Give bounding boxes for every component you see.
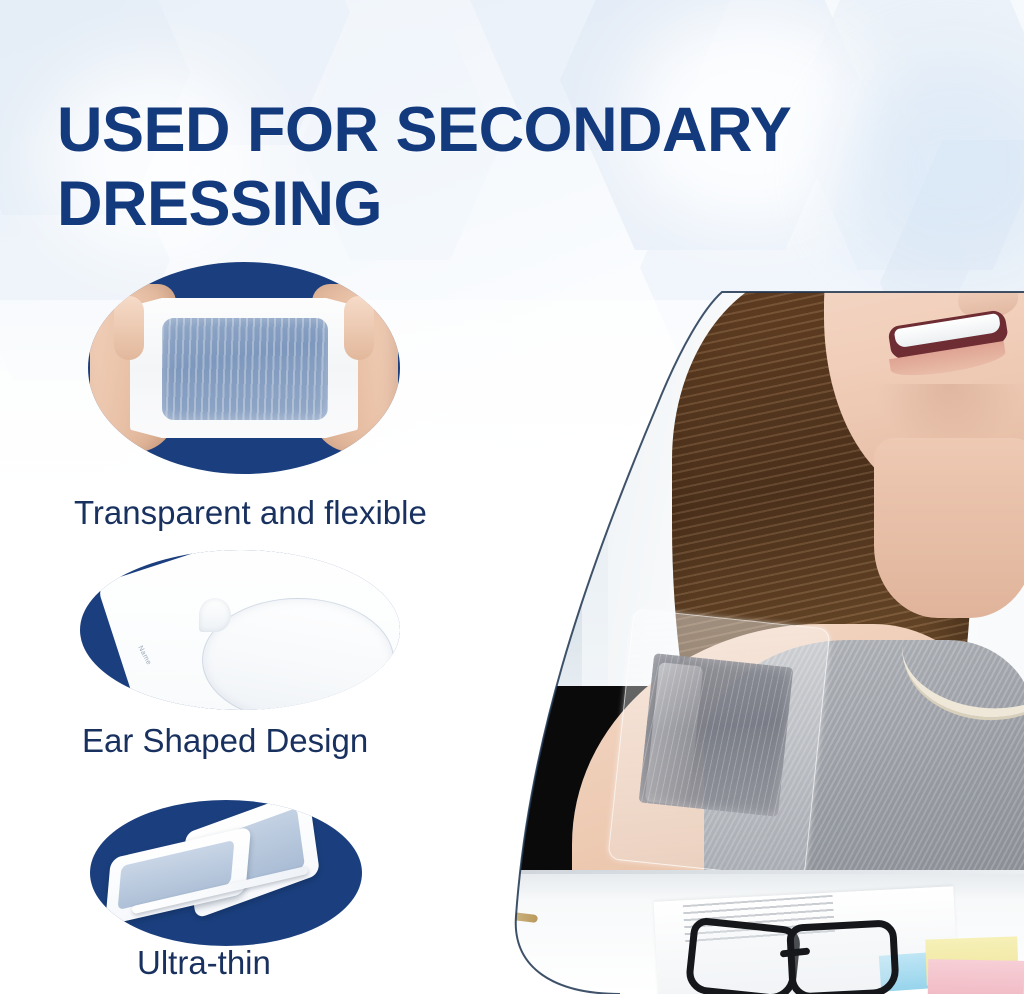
feature-caption-transparent: Transparent and flexible: [74, 494, 427, 532]
eyeglass-lens-right: [786, 919, 900, 994]
thumb-left-icon: [114, 296, 144, 360]
feature-caption-ultra-thin: Ultra-thin: [137, 944, 271, 982]
feature-caption-ear-shaped: Ear Shaped Design: [82, 722, 368, 760]
dressing-stretch-illustration: [88, 262, 400, 474]
ultra-thin-dressing-illustration: [90, 800, 362, 946]
thumb-right-icon: [344, 296, 374, 360]
eyeglasses: [688, 924, 898, 994]
feature-image-transparent: [88, 262, 400, 474]
page-title: USED FOR SECONDARY DRESSING: [57, 94, 977, 241]
feature-image-ear-shaped: Name: [80, 550, 400, 710]
ear-shaped-dressing-illustration: Name: [80, 550, 400, 710]
dressing-pad: [162, 318, 328, 420]
product-infographic-canvas: USED FOR SECONDARY DRESSING Transparent …: [0, 0, 1024, 999]
sticky-note-pink: [928, 959, 1024, 994]
feature-image-ultra-thin: [90, 800, 362, 946]
